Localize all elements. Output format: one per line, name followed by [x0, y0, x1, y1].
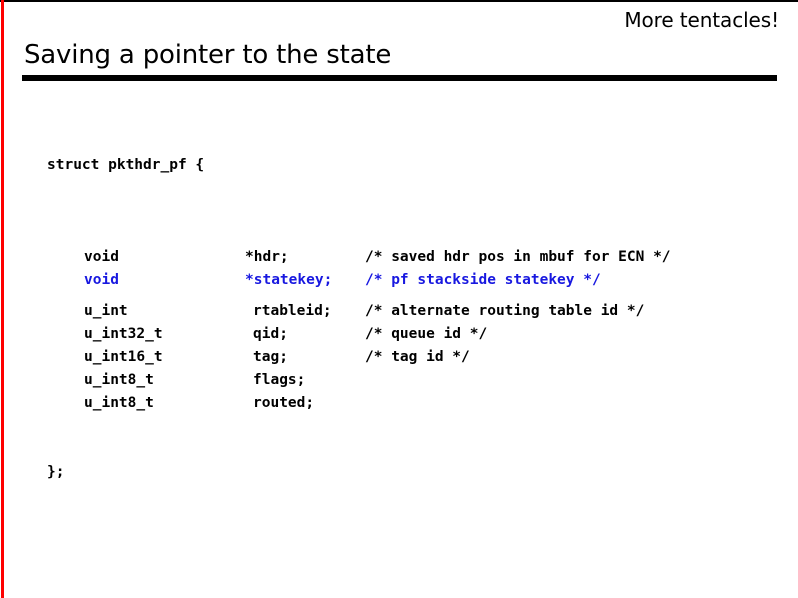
title-underline-rule	[22, 75, 777, 81]
code-field-comment: /* pf stackside statekey */	[365, 269, 601, 292]
code-field-name: qid;	[253, 323, 288, 346]
code-field-name: tag;	[253, 346, 288, 369]
code-field-type: u_int8_t	[84, 369, 154, 392]
code-line-field: u_intrtableid;/* alternate routing table…	[0, 300, 798, 323]
code-line-field: u_int8_tflags;	[0, 369, 798, 392]
code-field-type: u_int32_t	[84, 323, 163, 346]
code-field-rows: void*hdr;/* saved hdr pos in mbuf for EC…	[0, 246, 798, 415]
code-field-type: u_int8_t	[84, 392, 154, 415]
code-field-comment: /* tag id */	[365, 346, 470, 369]
top-border-rule	[0, 0, 798, 2]
code-line-struct-close: };	[0, 461, 798, 484]
code-field-comment: /* saved hdr pos in mbuf for ECN */	[365, 246, 671, 269]
code-line-field: u_int16_ttag;/* tag id */	[0, 346, 798, 369]
code-field-name: routed;	[253, 392, 314, 415]
code-field-name: rtableid;	[253, 300, 332, 323]
slide-canvas: More tentacles! Saving a pointer to the …	[0, 0, 798, 598]
code-field-comment: /* alternate routing table id */	[365, 300, 644, 323]
code-line-struct-open: struct pkthdr_pf {	[0, 154, 798, 177]
code-line-field: void*hdr;/* saved hdr pos in mbuf for EC…	[0, 246, 798, 269]
code-field-type: void	[84, 269, 119, 292]
code-line-field: void*statekey;/* pf stackside statekey *…	[0, 269, 798, 292]
code-field-comment: /* queue id */	[365, 323, 487, 346]
code-field-type: void	[84, 246, 119, 269]
struct-close-text: };	[47, 461, 64, 484]
code-line-field: u_int32_tqid;/* queue id */	[0, 323, 798, 346]
code-line-field: u_int8_trouted;	[0, 392, 798, 415]
code-field-name: *hdr;	[245, 246, 289, 269]
code-field-name: *statekey;	[245, 269, 332, 292]
code-field-name: flags;	[253, 369, 305, 392]
code-field-type: u_int16_t	[84, 346, 163, 369]
struct-open-text: struct pkthdr_pf {	[47, 154, 204, 177]
slide-kicker: More tentacles!	[624, 8, 779, 32]
code-field-type: u_int	[84, 300, 128, 323]
page-title: Saving a pointer to the state	[24, 39, 391, 71]
code-block: struct pkthdr_pf { void*hdr;/* saved hdr…	[0, 108, 798, 530]
